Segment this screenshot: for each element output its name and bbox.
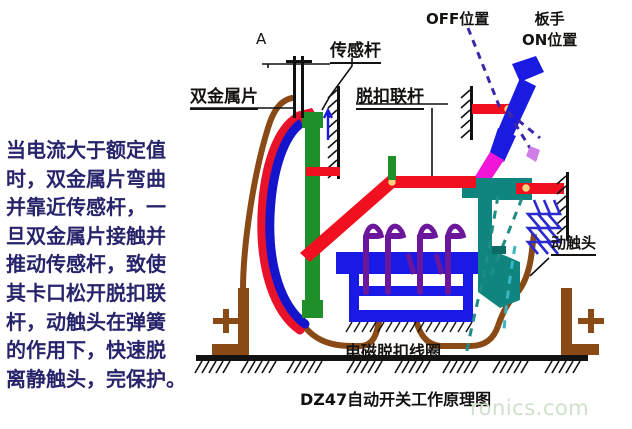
gap-marker-label: A [256,30,266,48]
description-paragraph: 当电流大于额定值 时，双金属片弯曲 并靠近传感杆，一 旦双金属片接触并 推动传感… [6,136,238,393]
right-terminal-post [561,288,604,355]
diagram-caption: DZ47自动开关工作原理图 [300,386,491,410]
label-off-position: OFF位置 [426,8,489,29]
label-sensor-rod: 传感杆 [330,36,381,64]
wall-mount-left [328,86,340,179]
watermark: ronics.com [470,396,589,420]
sensor-rod [302,112,323,318]
static-contact [492,246,506,254]
label-bimetal-strip: 双金属片 [190,82,258,110]
linkage-pin [388,156,396,180]
wall-mount-pivot [461,86,473,140]
label-handle-line2: ON位置 [522,29,577,50]
label-handle-line1: 板手 [522,8,577,29]
handle-off-tip [526,146,540,162]
label-trip-coil: 电磁脱扣线圈 [345,338,441,362]
linkage-to-contact-bar [430,176,476,188]
electromagnetic-trip-coil [336,226,491,332]
wall-mount-right [557,172,569,240]
lower-pivot-bar [516,183,564,194]
label-trip-linkage: 脱扣联杆 [356,82,424,110]
label-moving-contact: 动触头 [551,232,596,256]
label-handle-on-position: 板手 ON位置 [522,8,577,50]
diagram-canvas: 当电流大于额定值 时，双金属片弯曲 并靠近传感杆，一 旦双金属片接触并 推动传感… [0,0,632,429]
